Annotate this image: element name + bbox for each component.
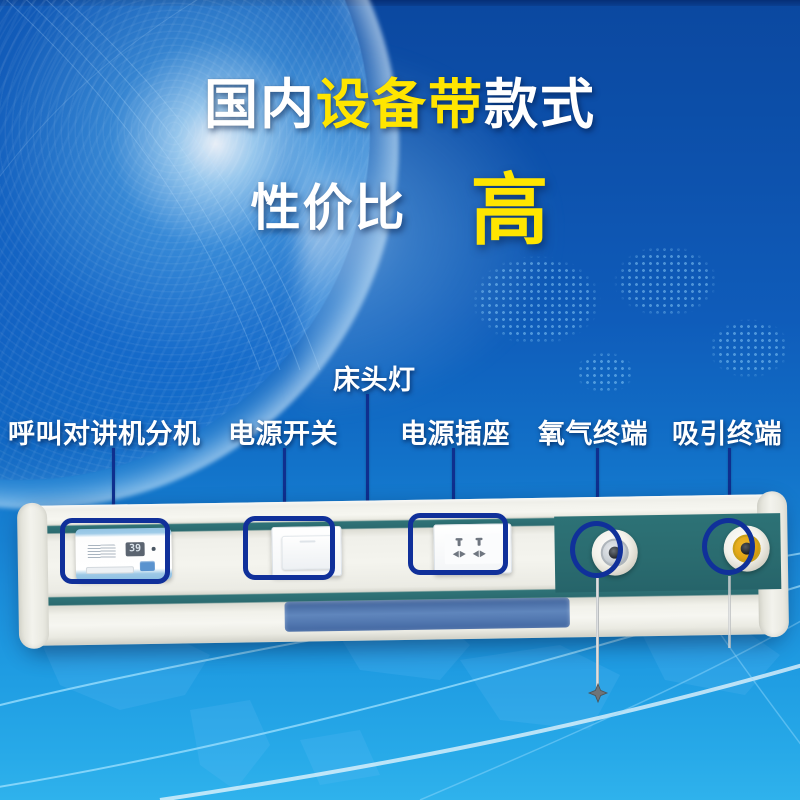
subheadline-text: 性价比 [250,179,406,237]
callout-label-power-socket: 电源插座 [400,412,510,451]
highlight-circle-oxygen [570,521,623,578]
subheadline-accent: 高 [470,166,549,256]
headline-primary: 国内设备带款式 [0,78,800,132]
callout-label-oxygen: 氧气终端 [538,412,648,451]
oxygen-terminal-cord [596,578,599,688]
promo-banner: 国内设备带款式 性价比高 呼叫对讲机分机 电源开关 床头灯 电源插座 氧气终端 … [0,0,800,800]
callout-label-power-switch: 电源开关 [228,412,338,451]
highlight-circle-suction [702,518,755,575]
headline-secondary: 性价比高 [0,160,800,238]
callout-label-suction: 吸引终端 [672,412,782,451]
headline-part-2-accent: 设备带 [316,73,484,136]
highlight-box-power-socket [408,513,508,575]
highlight-box-power-switch [243,516,335,580]
panel-end-cap-left [17,503,49,649]
callout-label-intercom: 呼叫对讲机分机 [8,412,201,451]
headline-part-1: 国内 [204,73,316,136]
headline-part-3: 款式 [484,73,596,136]
highlight-box-intercom [60,518,170,584]
suction-terminal-cord [728,576,731,648]
oxygen-cord-connector-icon [587,682,609,704]
callout-label-bed-lamp: 床头灯 [333,358,416,397]
bedside-lamp-diffuser[interactable] [284,597,569,631]
